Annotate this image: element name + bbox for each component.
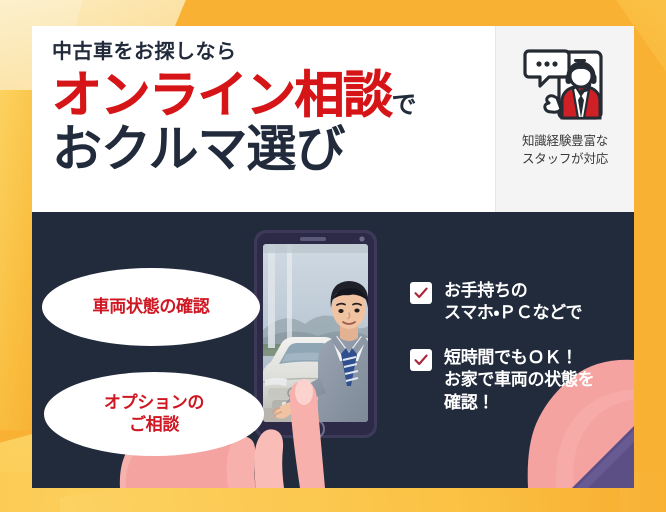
content-card: 中古車をお探しなら オンライン相談 で おクルマ選び [32, 26, 634, 488]
checklist-duration-line-1: 短時間でもＯＫ！ [444, 348, 578, 367]
headline-emphasis-text: オンライン相談 [52, 70, 392, 120]
features-section: 車両状態の確認 オプションの ご相談 お手持ちの [32, 212, 634, 488]
feature-checklist: お手持ちの スマホ・ＰＣなどで 短時間でもＯＫ！ お家で車両の状態を 確認！ [410, 280, 624, 436]
checklist-item-device-text: お手持ちの スマホ・ＰＣなどで [444, 280, 582, 325]
phone-screen-photo [261, 244, 376, 422]
checklist-device-line-1: お手持ちの [444, 281, 528, 300]
badge-option-consultation[interactable]: オプションの ご相談 [44, 372, 264, 456]
badge-option-line-1: オプションの [104, 393, 204, 412]
video-consultation-operator-icon [521, 42, 609, 124]
headline-line-1: オンライン相談 で [52, 70, 495, 120]
staff-caption-line-2: スタッフが対応 [522, 150, 608, 168]
headline-particle-text: で [392, 93, 417, 120]
checklist-device-line-2: スマホ・ＰＣなどで [444, 303, 582, 322]
headline-column: 中古車をお探しなら オンライン相談 で おクルマ選び [32, 26, 495, 212]
checkbox-checked-icon[interactable] [410, 282, 432, 304]
badge-vehicle-condition-label: 車両状態の確認 [93, 296, 210, 318]
checklist-duration-line-2: お家で車両の状態を [444, 370, 594, 389]
checklist-item-duration: 短時間でもＯＫ！ お家で車両の状態を 確認！ [410, 347, 624, 414]
checklist-duration-line-3: 確認！ [444, 393, 494, 412]
staff-support-panel: 知識経験豊富な スタッフが対応 [495, 26, 634, 212]
eyebrow-text: 中古車をお探しなら [52, 42, 495, 62]
badge-option-consultation-label: オプションの ご相談 [104, 392, 204, 436]
advertisement-banner: 中古車をお探しなら オンライン相談 で おクルマ選び [0, 0, 666, 512]
badge-vehicle-condition[interactable]: 車両状態の確認 [42, 268, 260, 346]
checklist-item-duration-text: 短時間でもＯＫ！ お家で車両の状態を 確認！ [444, 347, 594, 414]
headline-section: 中古車をお探しなら オンライン相談 で おクルマ選び [32, 26, 634, 212]
checklist-item-device: お手持ちの スマホ・ＰＣなどで [410, 280, 624, 325]
badge-option-line-2: ご相談 [129, 415, 179, 434]
staff-caption: 知識経験豊富な スタッフが対応 [522, 132, 608, 168]
headline-line-2: おクルマ選び [52, 124, 495, 174]
staff-caption-line-1: 知識経験豊富な [522, 132, 608, 150]
checkbox-checked-icon[interactable] [410, 349, 432, 371]
